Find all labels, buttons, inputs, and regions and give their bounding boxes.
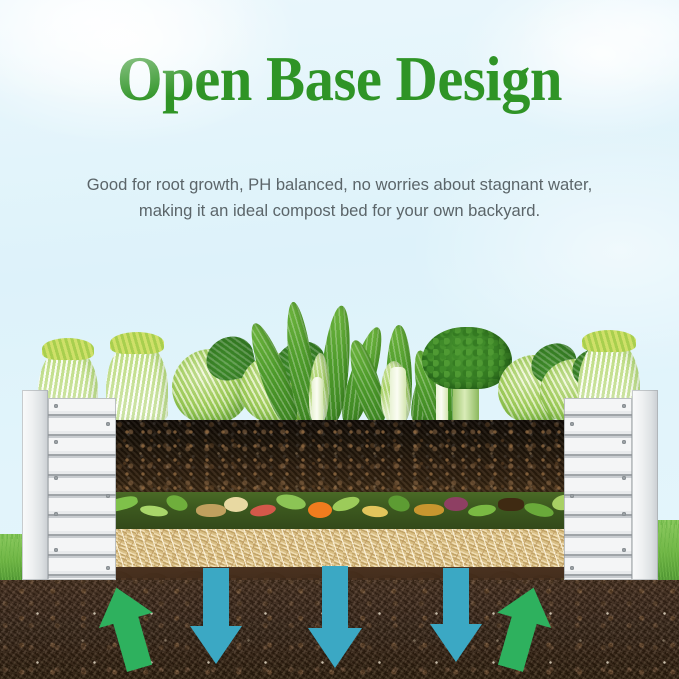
layer-kitchen-scraps [100, 492, 580, 529]
slat-stack-right [564, 398, 632, 580]
raised-garden-bed [22, 398, 658, 580]
flow-arrow-group [0, 572, 679, 679]
bed-right-end-panel [558, 398, 658, 580]
page-subtitle: Good for root growth, PH balanced, no wo… [28, 172, 651, 224]
layer-straw [100, 529, 580, 567]
bed-left-end-panel [22, 398, 122, 580]
slat-stack-left [48, 398, 116, 580]
arrow-down-3-icon [430, 568, 482, 662]
subtitle-line-1: Good for root growth, PH balanced, no wo… [87, 175, 592, 194]
compost-cross-section [100, 420, 580, 578]
layer-topsoil [100, 420, 580, 492]
arrow-down-2-icon [308, 566, 362, 668]
corner-post-left [22, 390, 48, 580]
arrow-up-right-icon [484, 580, 561, 676]
product-feature-banner: Open Base Design Good for root growth, P… [0, 0, 679, 679]
subtitle-line-2: making it an ideal compost bed for your … [28, 198, 651, 224]
arrow-up-left-icon [90, 580, 167, 676]
corner-post-right [632, 390, 658, 580]
arrow-down-1-icon [190, 568, 242, 664]
page-title: Open Base Design [24, 46, 655, 112]
